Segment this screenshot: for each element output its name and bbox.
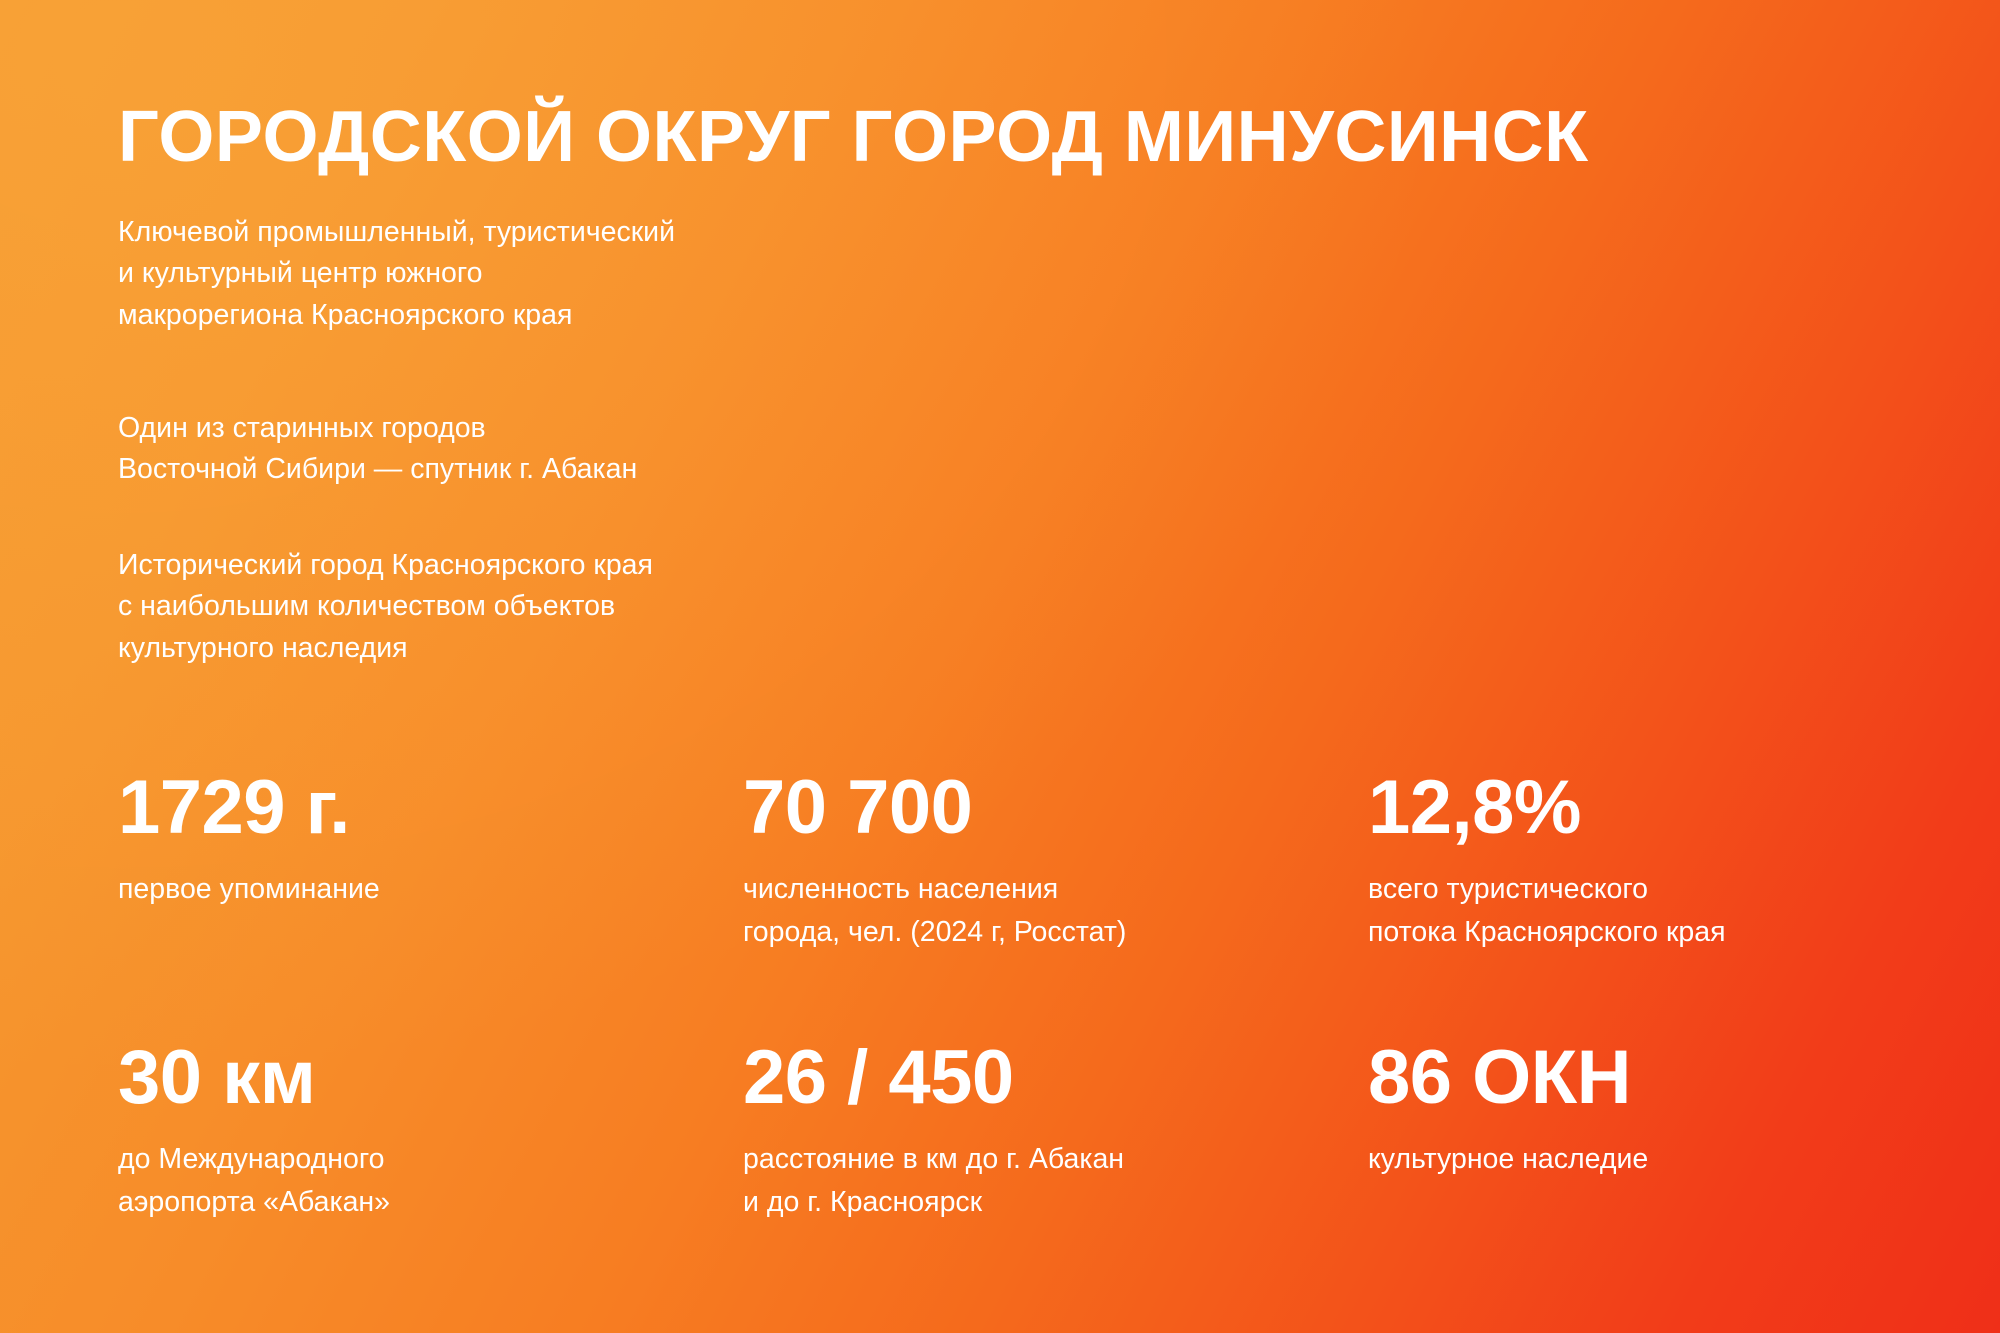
stat-label: численность населения города, чел. (2024… [743,868,1368,954]
stat-value: 12,8% [1368,770,1908,846]
stat-label: расстояние в км до г. Абакан и до г. Кра… [743,1138,1368,1224]
stat-value: 70 700 [743,770,1368,846]
intro-paragraph-3: Исторический город Красноярского края с … [118,545,653,669]
stat-population: 70 700 численность населения города, чел… [743,770,1368,1040]
stat-city-distances: 26 / 450 расстояние в км до г. Абакан и … [743,1040,1368,1224]
intro-paragraph-1-text: Ключевой промышленный, туристический и к… [118,212,675,336]
stat-label: культурное наследие [1368,1138,1908,1181]
stat-first-mention: 1729 г. первое упоминание [118,770,743,1040]
intro-paragraph-2-text: Один из старинных городов Восточной Сиби… [118,408,637,491]
intro-paragraph-2: Один из старинных городов Восточной Сиби… [118,408,637,491]
stats-grid: 1729 г. первое упоминание 70 700 численн… [118,770,1908,1224]
stat-value: 30 км [118,1040,743,1116]
intro-paragraph-1: Ключевой промышленный, туристический и к… [118,212,675,336]
stat-value: 1729 г. [118,770,743,846]
page-title: ГОРОДСКОЙ ОКРУГ ГОРОД МИНУСИНСК [118,100,1589,176]
intro-paragraph-3-text: Исторический город Красноярского края с … [118,545,653,669]
slide-root: ГОРОДСКОЙ ОКРУГ ГОРОД МИНУСИНСК Ключевой… [0,0,2000,1333]
stat-value: 86 ОКН [1368,1040,1908,1116]
stat-tourist-share: 12,8% всего туристического потока Красно… [1368,770,1908,1040]
stat-label: до Международного аэропорта «Абакан» [118,1138,743,1224]
stat-label: первое упоминание [118,868,743,911]
stat-value: 26 / 450 [743,1040,1368,1116]
stat-heritage-sites: 86 ОКН культурное наследие [1368,1040,1908,1224]
stat-label: всего туристического потока Красноярског… [1368,868,1908,954]
stat-airport-distance: 30 км до Международного аэропорта «Абака… [118,1040,743,1224]
